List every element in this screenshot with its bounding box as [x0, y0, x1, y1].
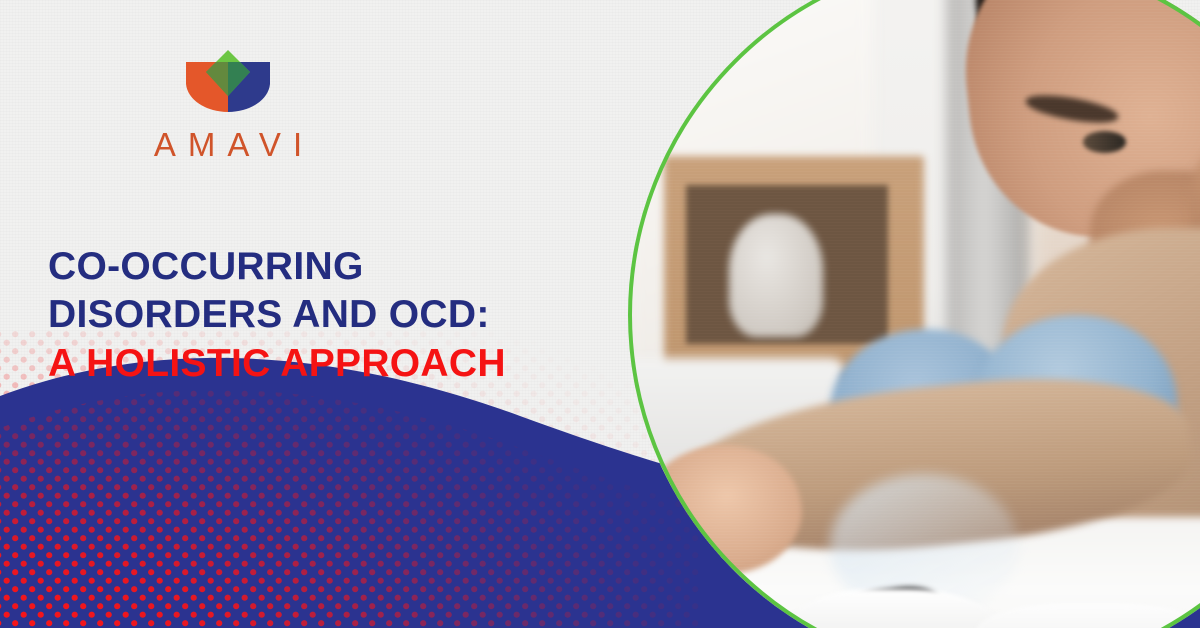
headline-block: CO-OCCURRING DISORDERS AND OCD: A HOLIST… [48, 243, 608, 388]
brand-wordmark: AMAVI [138, 128, 318, 161]
hero-photo [628, 0, 1200, 628]
headline-line-2: DISORDERS AND OCD: [48, 291, 608, 339]
photo-grain-overlay [628, 0, 1200, 628]
blog-banner: AMAVI CO-OCCURRING DISORDERS AND OCD: A … [0, 0, 1200, 628]
amavi-bowl-leaf-logo-icon [180, 48, 276, 114]
headline-line-1: CO-OCCURRING [48, 243, 608, 291]
headline-line-3: A HOLISTIC APPROACH [48, 340, 608, 388]
brand-logo[interactable]: AMAVI [138, 48, 318, 161]
hero-photo-image [628, 0, 1200, 628]
